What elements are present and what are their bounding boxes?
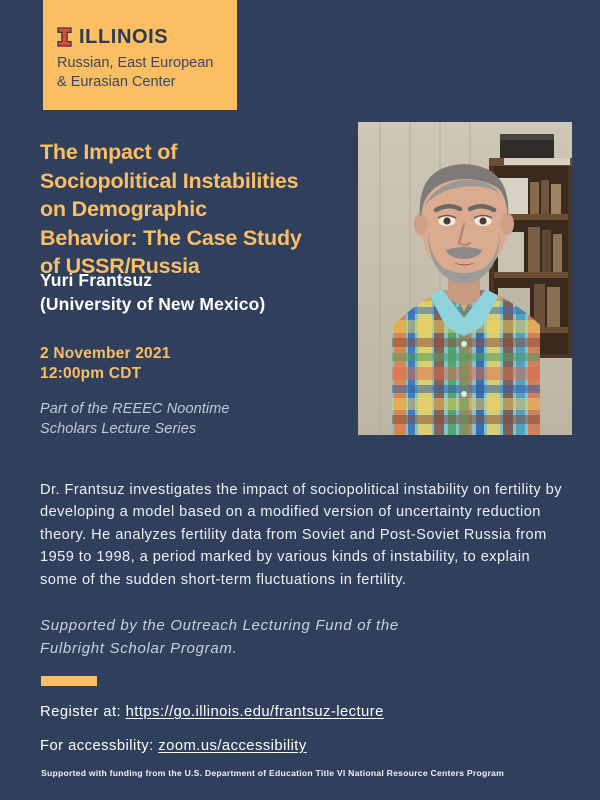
speaker-photo: [358, 122, 572, 435]
accessibility-link[interactable]: zoom.us/accessibility: [158, 738, 306, 754]
speaker-portrait-illustration: [358, 122, 572, 435]
accessibility-label: For accessbility:: [40, 738, 154, 754]
illinois-reeec-logo-block: ILLINOIS Russian, East European & Eurasi…: [43, 0, 237, 110]
illinois-wordmark: ILLINOIS: [79, 27, 168, 47]
lecture-series-note: Part of the REEEC Noontime Scholars Lect…: [40, 399, 360, 439]
abstract-paragraph: Dr. Frantsuz investigates the impact of …: [40, 479, 562, 592]
accessibility-line: For accessbility: zoom.us/accessibility: [40, 736, 307, 756]
page-title: The Impact of Sociopolitical Instabiliti…: [40, 138, 356, 281]
event-datetime: 2 November 2021 12:00pm CDT: [40, 344, 360, 384]
orange-divider-bar: [41, 676, 97, 686]
reeec-center-name: Russian, East European & Eurasian Center: [57, 54, 237, 91]
event-poster: ILLINOIS Russian, East European & Eurasi…: [0, 0, 600, 800]
register-line: Register at: https://go.illinois.edu/fra…: [40, 702, 384, 722]
funding-footer: Supported with funding from the U.S. Dep…: [41, 767, 571, 779]
register-link[interactable]: https://go.illinois.edu/frantsuz-lecture: [126, 704, 384, 720]
register-label: Register at:: [40, 704, 121, 720]
funding-support-note: Supported by the Outreach Lecturing Fund…: [40, 615, 540, 660]
logo-wordmark-row: ILLINOIS: [57, 26, 237, 48]
illinois-block-i-icon: [57, 27, 72, 47]
speaker-name-affiliation: Yuri Frantsuz (University of New Mexico): [40, 268, 360, 316]
